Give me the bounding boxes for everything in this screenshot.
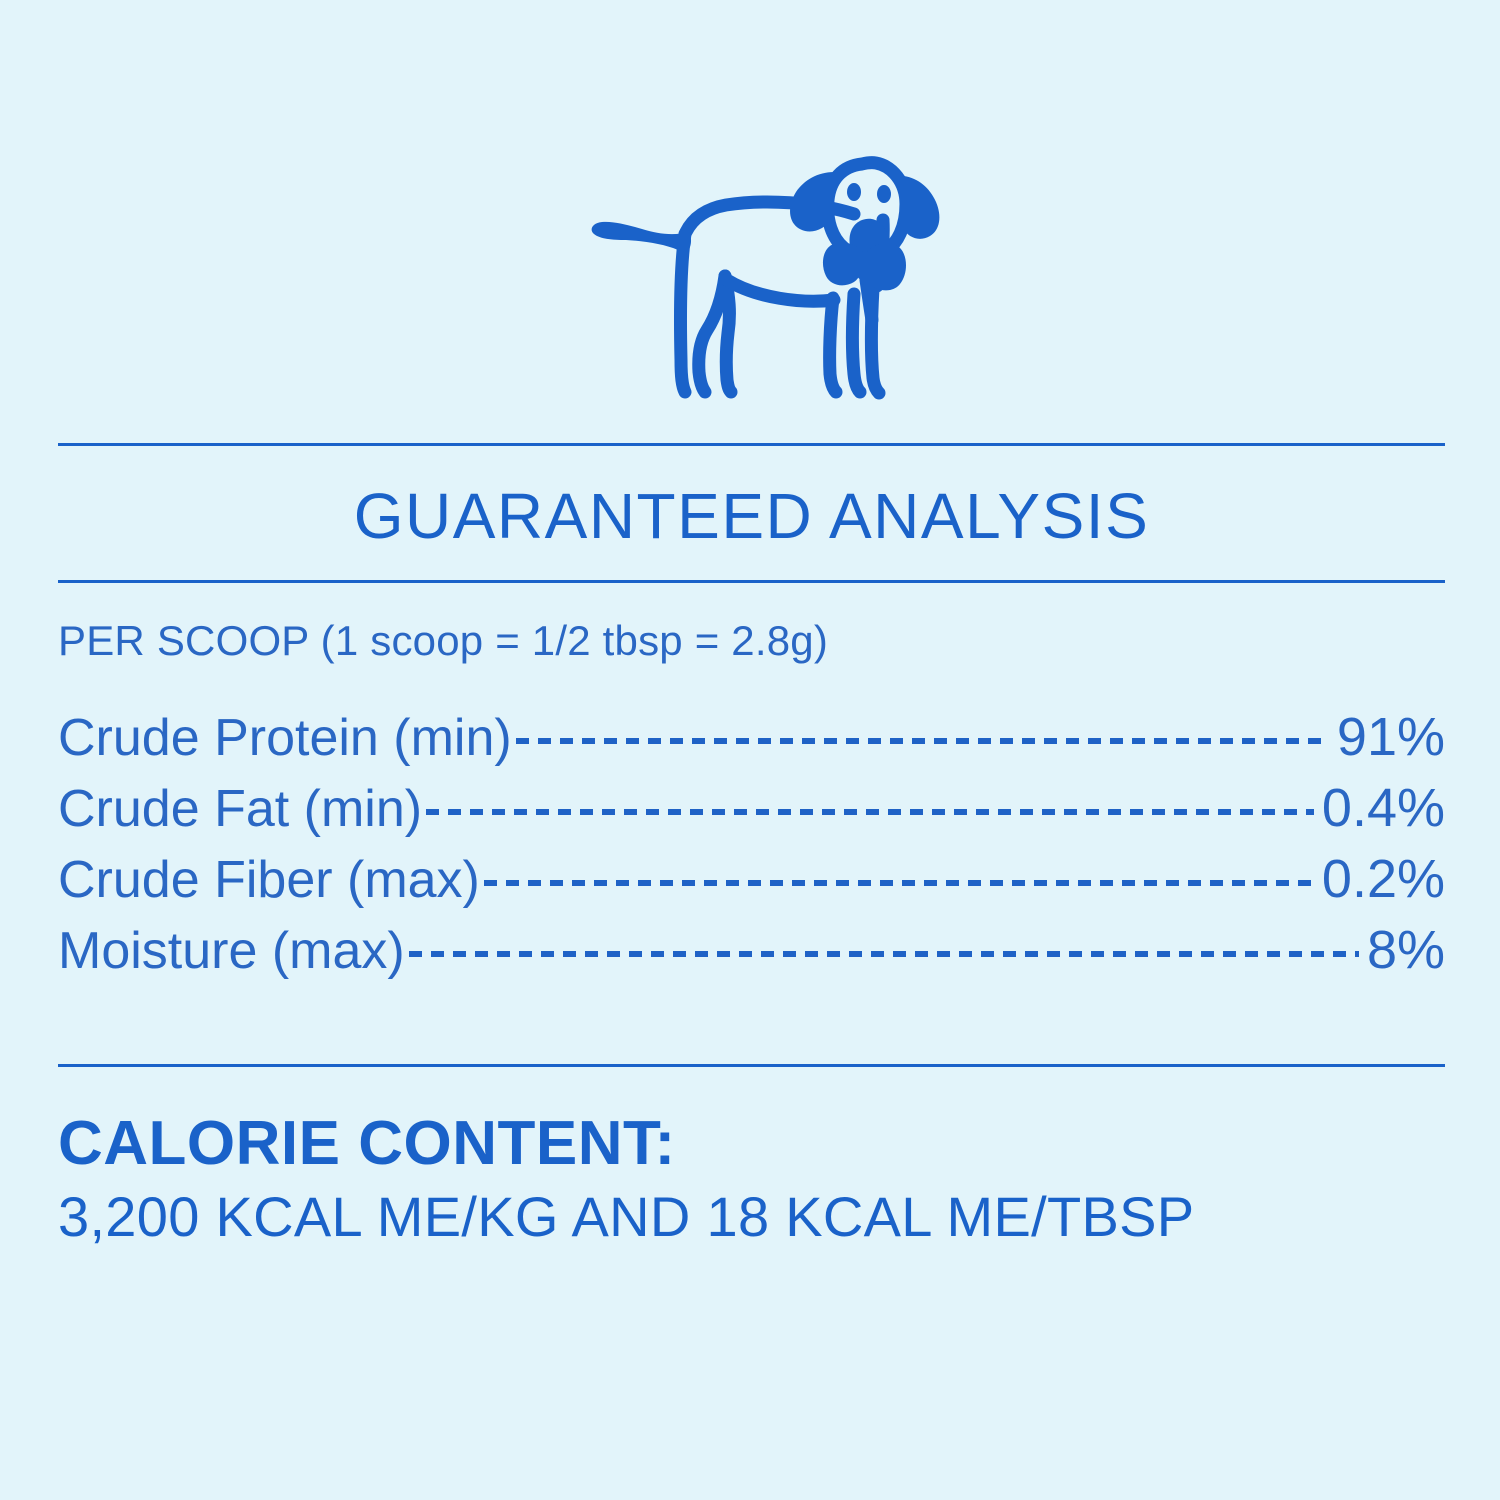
nutrient-name: Crude Fiber (max)	[58, 845, 480, 916]
dog-collar-strap	[866, 280, 872, 320]
nutrient-value: 0.2%	[1322, 844, 1445, 915]
nutrient-name: Crude Protein (min)	[58, 703, 512, 774]
nutrient-name: Moisture (max)	[58, 916, 405, 987]
table-row: Crude Protein (min) 91%	[58, 702, 1445, 773]
table-row: Crude Fat (min) 0.4%	[58, 773, 1445, 844]
leader-dots	[426, 774, 1314, 826]
calorie-content-heading: CALORIE CONTENT:	[58, 1106, 1445, 1182]
dog-eye-right	[877, 185, 891, 203]
calorie-content-block: CALORIE CONTENT: 3,200 KCAL ME/KG AND 18…	[58, 1106, 1445, 1252]
serving-note: PER SCOOP (1 scoop = 1/2 tbsp = 2.8g)	[58, 616, 828, 666]
table-row: Crude Fiber (max) 0.2%	[58, 844, 1445, 915]
guaranteed-analysis-label: GUARANTEED ANALYSIS PER SCOOP (1 scoop =…	[0, 0, 1500, 1500]
nutrient-value: 91%	[1337, 702, 1445, 773]
dog-ear-right	[900, 176, 939, 239]
nutrient-value: 8%	[1367, 915, 1445, 986]
divider-middle	[58, 580, 1445, 583]
nutrient-name: Crude Fat (min)	[58, 774, 422, 845]
dog-tail	[592, 222, 691, 252]
dog-with-bowtie-icon	[566, 128, 976, 423]
nutrient-value: 0.4%	[1322, 773, 1445, 844]
page-title: GUARANTEED ANALYSIS	[58, 477, 1445, 555]
leader-dots	[409, 916, 1359, 968]
leader-dots	[516, 703, 1329, 755]
dog-eye-left	[847, 183, 861, 201]
calorie-content-detail: 3,200 KCAL ME/KG AND 18 KCAL ME/TBSP	[58, 1182, 1445, 1252]
analysis-table: Crude Protein (min) 91% Crude Fat (min) …	[58, 702, 1445, 986]
table-row: Moisture (max) 8%	[58, 915, 1445, 986]
divider-bottom	[58, 1064, 1445, 1067]
dog-ear-left	[790, 172, 834, 231]
leader-dots	[484, 845, 1314, 897]
divider-top	[58, 443, 1445, 446]
